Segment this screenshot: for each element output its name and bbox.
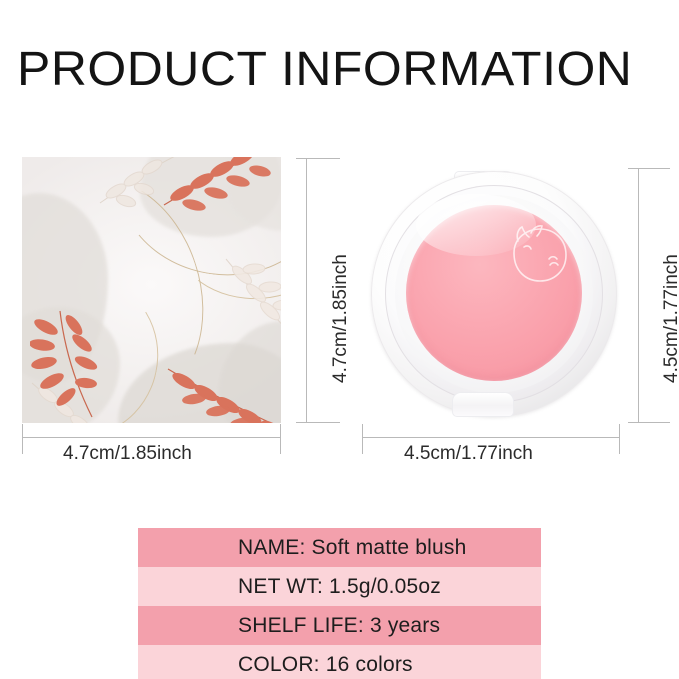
package-width-dim-cap-right	[280, 424, 281, 454]
blush-powder-pan	[406, 205, 582, 381]
package-height-dim-cap-top	[296, 158, 340, 159]
package-height-dim-cap-bottom	[296, 422, 340, 423]
compact-height-dim-label: 4.5cm/1.77inch	[661, 254, 679, 383]
spec-row-shelf-life: SHELF LIFE: 3 years	[238, 614, 440, 638]
product-information-page: PRODUCT INFORMATION	[0, 0, 679, 679]
cat-face-emboss-icon	[504, 223, 574, 287]
compact-width-dim-cap-left	[362, 424, 363, 454]
compact-height-dim-line	[638, 168, 639, 423]
compact-height-dim-cap-bottom	[628, 422, 670, 423]
table-row: COLOR: 16 colors	[138, 645, 541, 679]
table-row: SHELF LIFE: 3 years	[138, 606, 541, 645]
package-image	[22, 157, 281, 423]
leaf-sprig-coral-bottom-icon	[162, 365, 281, 423]
spec-row-color: COLOR: 16 colors	[238, 653, 413, 677]
package-width-dim-label: 4.7cm/1.85inch	[63, 443, 192, 465]
package-width-dim-cap-left	[22, 424, 23, 454]
leaf-sprig-coral-left-icon	[30, 305, 134, 423]
compact-height-dim-cap-top	[628, 168, 670, 169]
spec-row-net-wt: NET WT: 1.5g/0.05oz	[238, 575, 441, 599]
page-title: PRODUCT INFORMATION	[17, 44, 679, 96]
table-row: NAME: Soft matte blush	[138, 528, 541, 567]
leaf-sprig-coral-top-right-icon	[160, 157, 281, 213]
leaf-sprig-pale-right-icon	[220, 249, 281, 349]
package-width-dim-line	[22, 437, 281, 438]
product-spec-table: NAME: Soft matte blush NET WT: 1.5g/0.05…	[138, 528, 541, 679]
table-row: NET WT: 1.5g/0.05oz	[138, 567, 541, 606]
compact-width-dim-line	[362, 437, 620, 438]
compact-width-dim-cap-right	[619, 424, 620, 454]
spec-row-name: NAME: Soft matte blush	[238, 536, 467, 560]
package-height-dim-label: 4.7cm/1.85inch	[330, 254, 352, 383]
compact-width-dim-label: 4.5cm/1.77inch	[404, 443, 533, 465]
blush-compact-image	[368, 168, 620, 420]
compact-hinge-tab-bottom	[452, 392, 514, 417]
package-height-dim-line	[306, 158, 307, 423]
